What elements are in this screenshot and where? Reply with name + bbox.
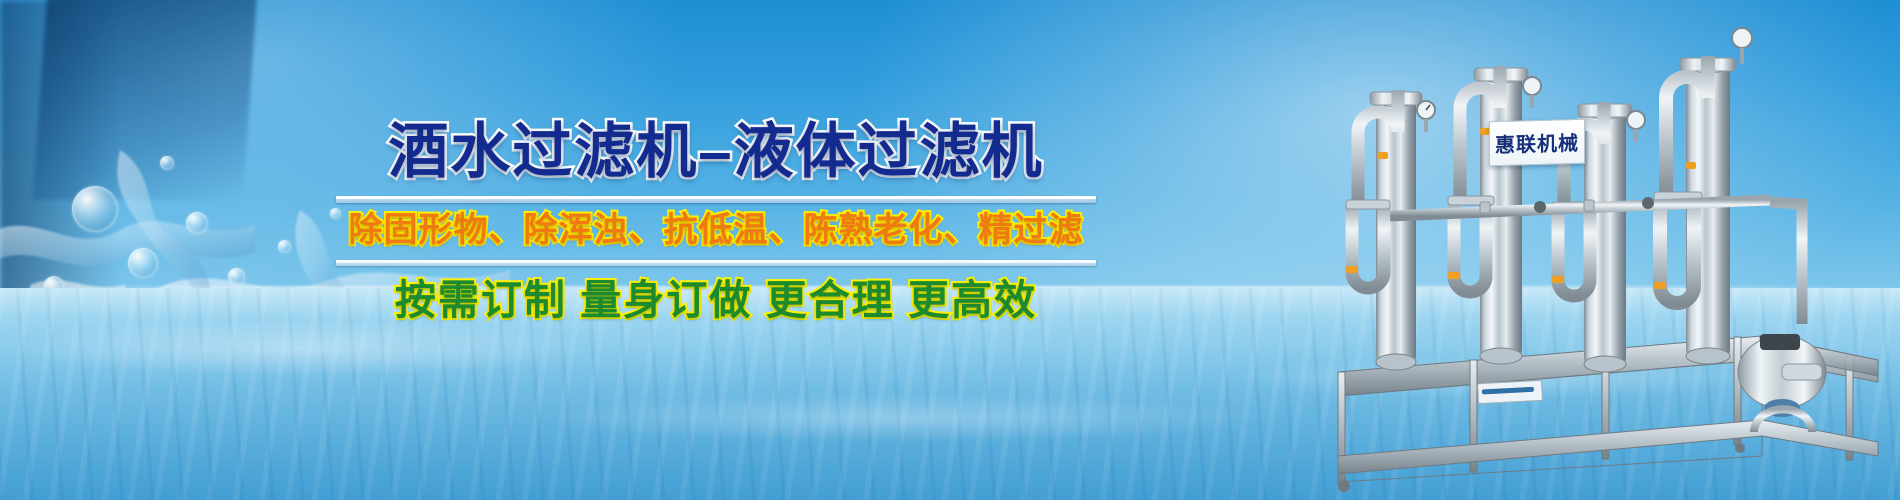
title-divider [336,196,1096,203]
bubble-icon [278,240,291,253]
filter-machine-photo [1330,4,1890,494]
pump-icon [1738,334,1826,432]
banner-features-line: 除固形物、除浑浊、抗低温、陈熟老化、精过滤 [336,209,1096,252]
banner-service-line: 按需订制 量身订做 更合理 更高效 [336,276,1096,325]
brand-plate-label: 惠联机械 [1495,127,1579,158]
banner-title: 酒水过滤机–液体过滤机 [336,122,1096,182]
bubble-icon [128,248,158,278]
bubble-icon [228,268,245,285]
features-divider [336,260,1096,266]
pressure-gauge-icon [1732,28,1752,48]
bubble-icon [72,186,118,232]
brand-plate: 惠联机械 [1489,119,1585,167]
banner-text-block: 酒水过滤机–液体过滤机 除固形物、除浑浊、抗低温、陈熟老化、精过滤 按需订制 量… [336,122,1096,325]
product-banner: 酒水过滤机–液体过滤机 除固形物、除浑浊、抗低温、陈熟老化、精过滤 按需订制 量… [0,0,1900,500]
bubble-icon [160,156,174,170]
bubble-icon [186,212,208,234]
